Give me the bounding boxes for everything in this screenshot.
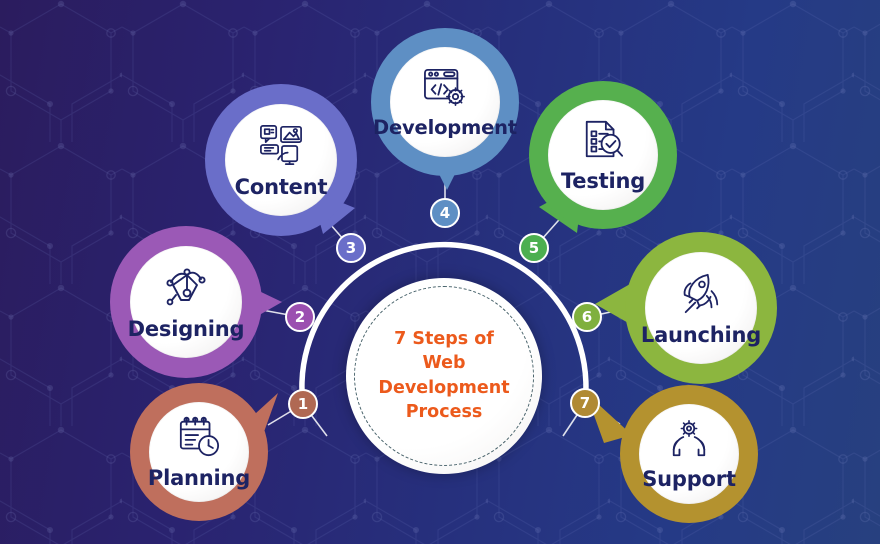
- node-face-planning: Planning: [149, 402, 249, 502]
- pen-tool-icon: [163, 265, 209, 309]
- center-circle: 7 Steps of Web Development Process: [346, 278, 542, 474]
- step-label-content: Content: [235, 177, 328, 198]
- node-face-designing: Designing: [130, 246, 242, 358]
- step-node-launching[interactable]: Launching: [625, 232, 777, 384]
- step-label-launching: Launching: [641, 325, 761, 346]
- step-node-testing[interactable]: Testing: [529, 81, 677, 229]
- step-badge-7[interactable]: 7: [570, 388, 600, 418]
- step-label-designing: Designing: [128, 319, 245, 340]
- step-badge-5-number: 5: [529, 241, 539, 256]
- center-title-line-4: Process: [406, 404, 483, 422]
- step-badge-3-number: 3: [346, 241, 356, 256]
- step-badge-6[interactable]: 6: [572, 302, 602, 332]
- center-title-line-2: Web: [422, 355, 465, 373]
- step-badge-5[interactable]: 5: [519, 233, 549, 263]
- calendar-clock-icon: [176, 415, 222, 459]
- node-face-support: Support: [639, 404, 739, 504]
- infographic-canvas: Planning Designing: [0, 0, 880, 544]
- step-badge-1[interactable]: 1: [288, 389, 318, 419]
- rocket-icon: [677, 271, 725, 315]
- step-badge-4-number: 4: [440, 206, 450, 221]
- step-badge-1-number: 1: [298, 397, 308, 412]
- center-title-line-3: Development: [378, 380, 509, 398]
- node-face-content: Content: [225, 104, 337, 216]
- step-label-support: Support: [642, 469, 736, 490]
- step-node-content[interactable]: Content: [205, 84, 357, 236]
- step-node-support[interactable]: Support: [620, 385, 758, 523]
- node-face-development: Development: [390, 47, 500, 157]
- step-badge-4[interactable]: 4: [430, 198, 460, 228]
- step-badge-6-number: 6: [582, 310, 592, 325]
- step-node-designing[interactable]: Designing: [110, 226, 262, 378]
- step-badge-2-number: 2: [295, 310, 305, 325]
- center-title-line-1: 7 Steps of: [394, 331, 494, 349]
- step-node-planning[interactable]: Planning: [130, 383, 268, 521]
- node-face-launching: Launching: [645, 252, 757, 364]
- step-node-development[interactable]: Development: [371, 28, 519, 176]
- checklist-magnifier-icon: [581, 118, 625, 162]
- step-badge-3[interactable]: 3: [336, 233, 366, 263]
- step-badge-2[interactable]: 2: [285, 302, 315, 332]
- step-label-planning: Planning: [148, 468, 250, 489]
- code-browser-gear-icon: [421, 67, 469, 109]
- content-media-icon: [257, 123, 305, 167]
- center-title: 7 Steps of Web Development Process: [346, 278, 542, 474]
- step-label-development: Development: [373, 118, 517, 138]
- node-face-testing: Testing: [548, 100, 658, 210]
- step-label-testing: Testing: [561, 171, 645, 192]
- hands-gear-icon: [666, 418, 712, 460]
- step-badge-7-number: 7: [580, 396, 590, 411]
